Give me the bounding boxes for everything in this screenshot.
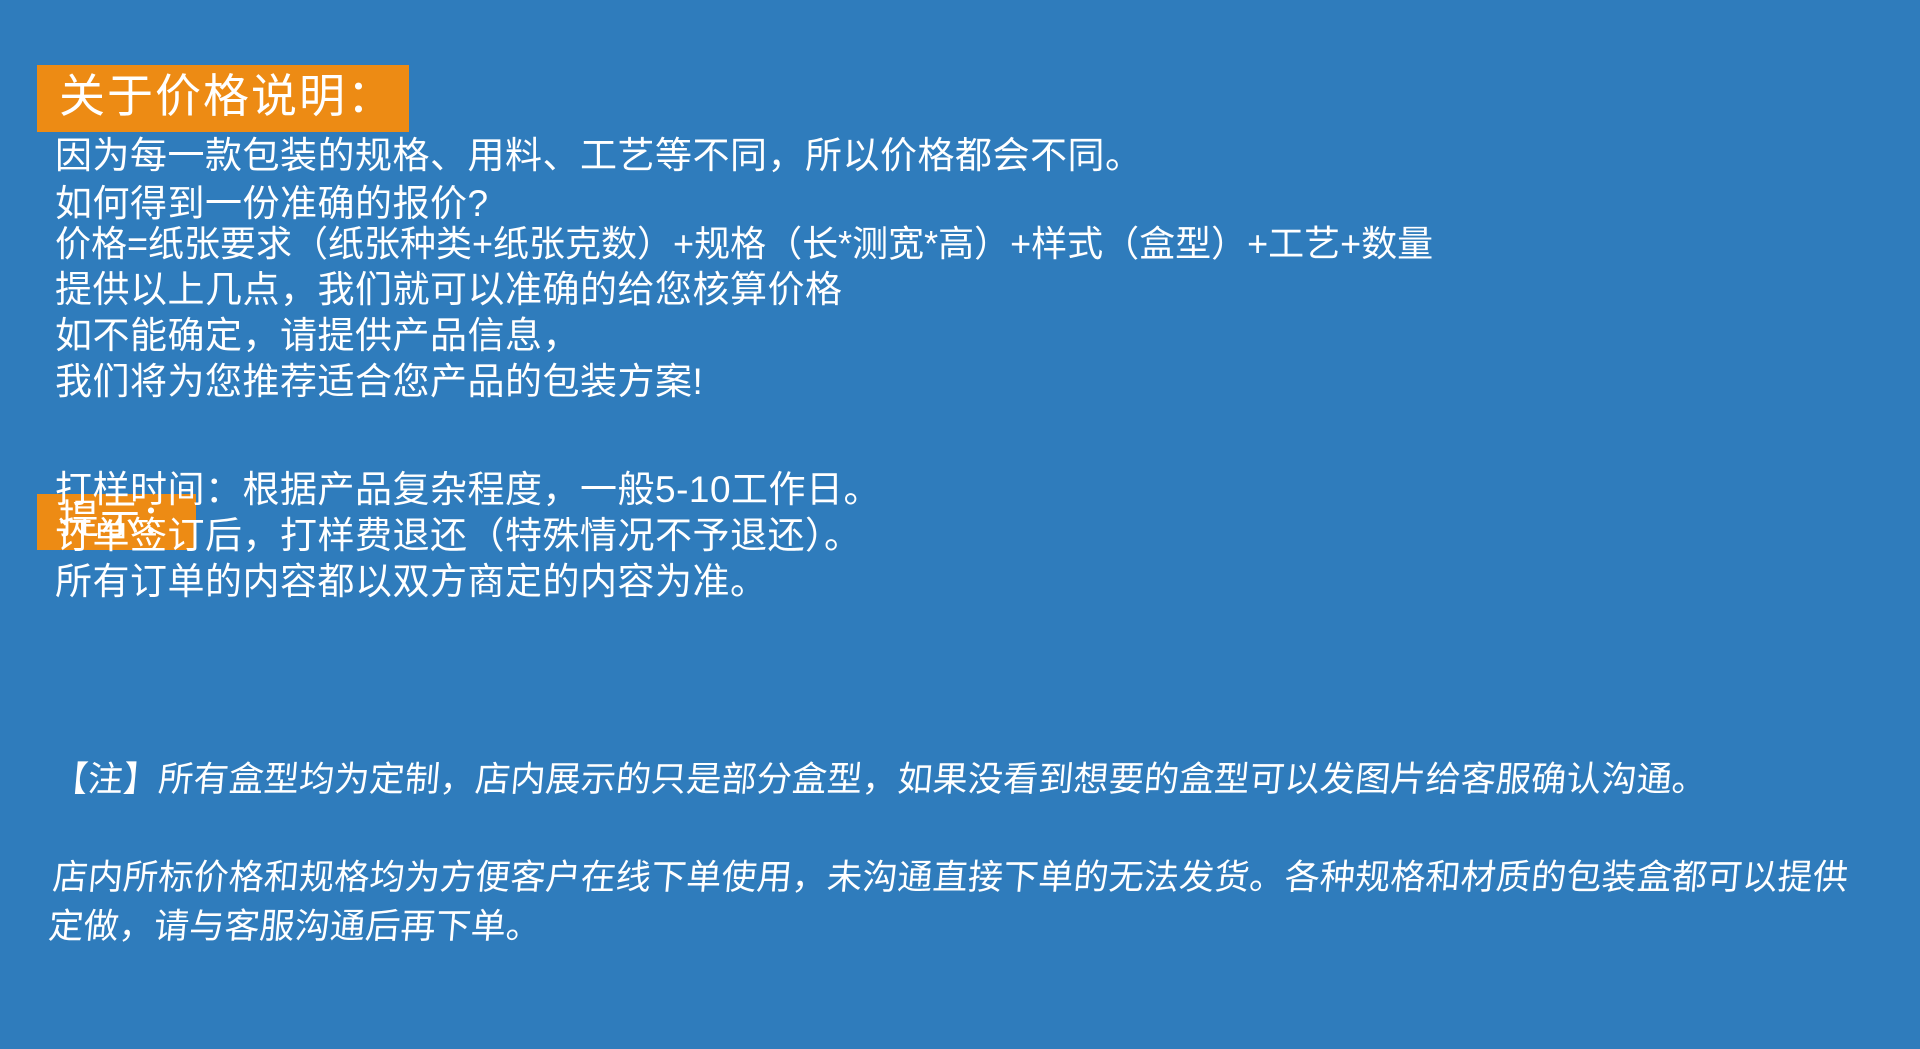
price-line-5: 如不能确定，请提供产品信息， xyxy=(55,314,580,358)
price-line-2: 如何得到一份准确的报价? xyxy=(55,182,489,226)
price-line-6: 我们将为您推荐适合您产品的包装方案! xyxy=(55,360,703,404)
note-paragraph-2: 店内所标价格和规格均为方便客户在线下单使用，未沟通直接下单的无法发货。各种规格和… xyxy=(46,853,1885,951)
tip-line-2: 订单签订后，打样费退还（特殊情况不予退还）。 xyxy=(55,514,862,558)
tip-line-3: 所有订单的内容都以双方商定的内容为准。 xyxy=(55,560,768,604)
tip-line-1: 打样时间：根据产品复杂程度，一般5-10工作日。 xyxy=(55,468,881,512)
price-section-heading: 关于价格说明： xyxy=(37,65,409,132)
price-formula-line: 价格=纸张要求（纸张种类+纸张克数）+规格（长*测宽*高）+样式（盒型）+工艺+… xyxy=(55,222,1433,266)
price-line-4: 提供以上几点，我们就可以准确的给您核算价格 xyxy=(55,268,843,312)
price-notice-panel: 关于价格说明： 因为每一款包装的规格、用料、工艺等不同，所以价格都会不同。 如何… xyxy=(0,0,1920,1049)
note-paragraph-1: 【注】所有盒型均为定制，店内展示的只是部分盒型，如果没看到想要的盒型可以发图片给… xyxy=(51,755,1865,804)
content-container: 关于价格说明： 因为每一款包装的规格、用料、工艺等不同，所以价格都会不同。 如何… xyxy=(55,0,1890,1049)
price-line-1: 因为每一款包装的规格、用料、工艺等不同，所以价格都会不同。 xyxy=(55,134,1143,178)
